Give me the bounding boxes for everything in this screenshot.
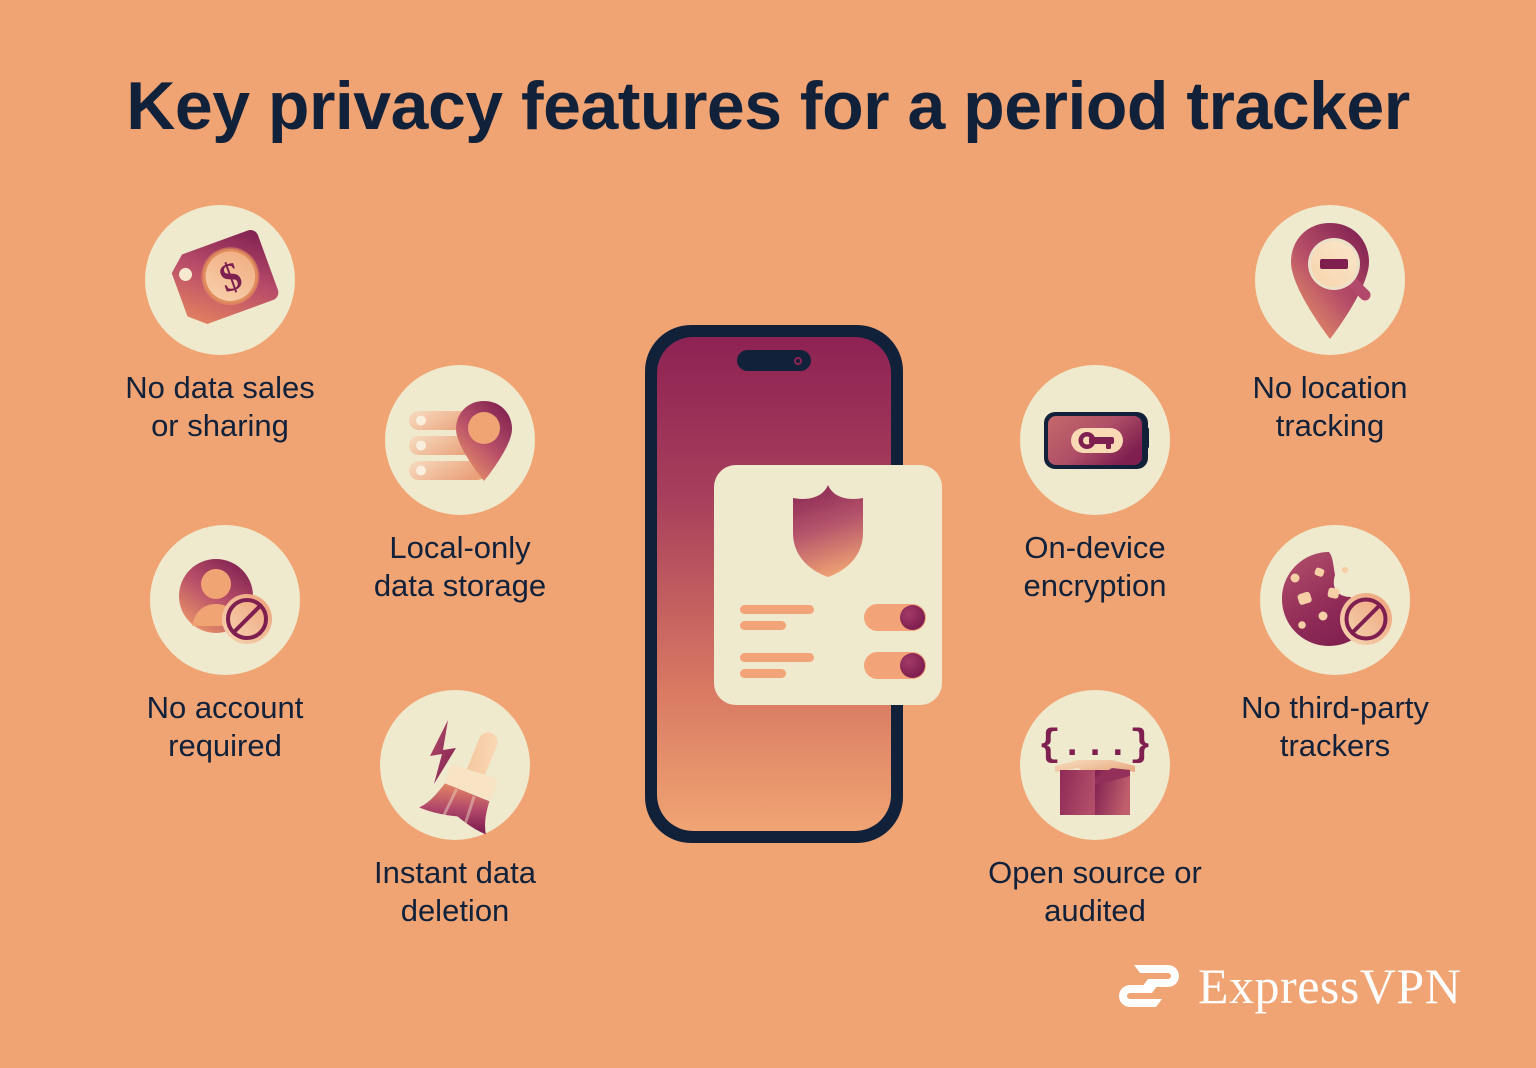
feature-label: Open source or audited	[945, 854, 1245, 930]
badge-open-source-audited: {...}	[1020, 690, 1170, 840]
expressvpn-e-mark-icon	[1118, 955, 1180, 1017]
badge-local-only-storage	[385, 365, 535, 515]
brand-name: ExpressVPN	[1198, 957, 1461, 1015]
map-pin-magnifier-minus-icon	[1255, 205, 1405, 355]
text-line	[740, 605, 814, 614]
broom-lightning-icon	[380, 690, 530, 840]
setting-text-lines	[740, 653, 814, 685]
text-line	[740, 621, 786, 630]
dynamic-island	[737, 350, 811, 371]
page-title: Key privacy features for a period tracke…	[0, 66, 1536, 146]
feature-no-location-tracking: No location tracking	[1180, 205, 1480, 445]
infographic-canvas: Key privacy features for a period tracke…	[0, 0, 1536, 1068]
badge-instant-deletion	[380, 690, 530, 840]
privacy-toggle-2[interactable]	[864, 652, 926, 679]
feature-instant-deletion: Instant data deletion	[305, 690, 605, 930]
price-tag-dollar-icon: $	[145, 205, 295, 355]
card-setting-row	[714, 649, 942, 693]
shield-icon	[787, 483, 869, 579]
card-setting-row	[714, 601, 942, 645]
open-box-code-braces-icon: {...}	[1020, 690, 1170, 840]
feature-open-source-audited: {...} Open source or audited	[945, 690, 1245, 930]
feature-label: Instant data deletion	[305, 854, 605, 930]
text-line	[740, 669, 786, 678]
cookie-prohibited-icon	[1260, 525, 1410, 675]
phone-key-icon	[1020, 365, 1170, 515]
badge-no-account	[150, 525, 300, 675]
text-line	[740, 653, 814, 662]
user-prohibited-icon	[150, 525, 300, 675]
privacy-toggle-1[interactable]	[864, 604, 926, 631]
toggle-knob	[900, 605, 925, 630]
badge-no-location-tracking	[1255, 205, 1405, 355]
expressvpn-logo: ExpressVPN	[1118, 955, 1461, 1017]
privacy-settings-card	[714, 465, 942, 705]
server-location-pin-icon	[385, 365, 535, 515]
front-camera-icon	[794, 357, 802, 365]
badge-no-third-party-trackers	[1260, 525, 1410, 675]
setting-text-lines	[740, 605, 814, 637]
badge-on-device-encryption	[1020, 365, 1170, 515]
badge-no-data-sales: $	[145, 205, 295, 355]
toggle-knob	[900, 653, 925, 678]
feature-label: No location tracking	[1180, 369, 1480, 445]
